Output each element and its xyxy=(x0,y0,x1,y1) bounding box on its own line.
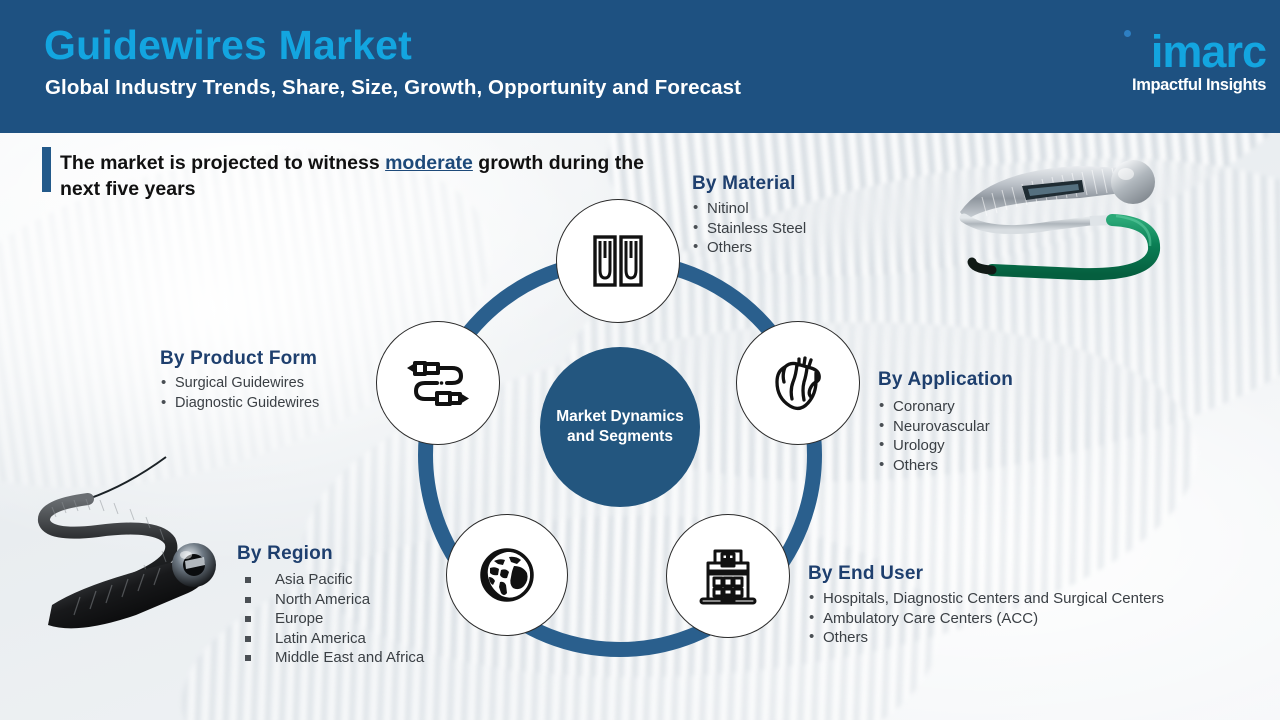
list-item: Stainless Steel xyxy=(692,219,806,239)
list-item: Middle East and Africa xyxy=(237,648,424,668)
infographic-canvas: Guidewires Market Global Industry Trends… xyxy=(0,0,1280,720)
segment-material: By Material Nitinol Stainless Steel Othe… xyxy=(692,173,806,258)
header-bar: Guidewires Market Global Industry Trends… xyxy=(0,0,1280,133)
tagline-accent-bar xyxy=(42,147,51,192)
page-title: Guidewires Market xyxy=(44,22,412,69)
segment-product-form-title: By Product Form xyxy=(160,348,319,370)
list-item: Asia Pacific xyxy=(237,570,424,590)
segment-application-list: Coronary Neurovascular Urology Others xyxy=(878,397,1013,475)
node-product-form[interactable] xyxy=(376,321,500,445)
segment-end-user-title: By End User xyxy=(808,563,1164,585)
tagline-text: The market is projected to witness moder… xyxy=(60,150,680,202)
segment-product-form: By Product Form Surgical Guidewires Diag… xyxy=(160,348,319,413)
segment-end-user-list: Hospitals, Diagnostic Centers and Surgic… xyxy=(808,589,1164,648)
hospital-icon xyxy=(695,545,761,607)
logo-tagline: Impactful Insights xyxy=(1132,76,1266,95)
hub-circle: Market Dynamics and Segments xyxy=(540,347,700,507)
globe-icon xyxy=(476,544,538,606)
page-subtitle: Global Industry Trends, Share, Size, Gro… xyxy=(45,76,741,100)
hub-line-1: Market Dynamics xyxy=(556,408,684,425)
list-item: Others xyxy=(878,456,1013,476)
segment-application-title: By Application xyxy=(878,369,1013,391)
logo-wordmark: imarc xyxy=(1151,28,1266,76)
segment-material-list: Nitinol Stainless Steel Others xyxy=(692,199,806,258)
guidewire-icon xyxy=(403,355,473,411)
list-item: Diagnostic Guidewires xyxy=(160,394,319,414)
segment-region-title: By Region xyxy=(237,543,424,565)
node-end-user[interactable] xyxy=(666,514,790,638)
list-item: Urology xyxy=(878,436,1013,456)
segment-region-list: Asia Pacific North America Europe Latin … xyxy=(237,570,424,668)
node-region[interactable] xyxy=(446,514,568,636)
heart-icon xyxy=(766,351,830,415)
list-item: Coronary xyxy=(878,397,1013,417)
segment-application: By Application Coronary Neurovascular Ur… xyxy=(878,369,1013,475)
node-application[interactable] xyxy=(736,321,860,445)
test-tubes-icon xyxy=(587,230,649,292)
tagline-highlight: moderate xyxy=(385,152,473,174)
list-item: Ambulatory Care Centers (ACC) xyxy=(808,609,1164,629)
list-item: Others xyxy=(692,238,806,258)
list-item: Neurovascular xyxy=(878,417,1013,437)
logo-dot-icon xyxy=(1124,30,1131,37)
hub-line-2: and Segments xyxy=(567,428,673,445)
list-item: Europe xyxy=(237,609,424,629)
list-item: Nitinol xyxy=(692,199,806,219)
list-item: North America xyxy=(237,590,424,610)
imarc-logo[interactable]: imarc Impactful Insights xyxy=(1086,28,1266,106)
guidewire-tip-image xyxy=(930,150,1200,290)
hub-label: Market Dynamics and Segments xyxy=(556,407,684,447)
list-item: Latin America xyxy=(237,629,424,649)
node-material[interactable] xyxy=(556,199,680,323)
list-item: Others xyxy=(808,628,1164,648)
segment-material-title: By Material xyxy=(692,173,806,195)
segment-region: By Region Asia Pacific North America Eur… xyxy=(237,543,424,668)
segment-end-user: By End User Hospitals, Diagnostic Center… xyxy=(808,563,1164,648)
list-item: Hospitals, Diagnostic Centers and Surgic… xyxy=(808,589,1164,609)
tagline-before: The market is projected to witness xyxy=(60,152,385,174)
segment-product-form-list: Surgical Guidewires Diagnostic Guidewire… xyxy=(160,374,319,413)
list-item: Surgical Guidewires xyxy=(160,374,319,394)
coiled-guidewire-image xyxy=(18,455,248,645)
